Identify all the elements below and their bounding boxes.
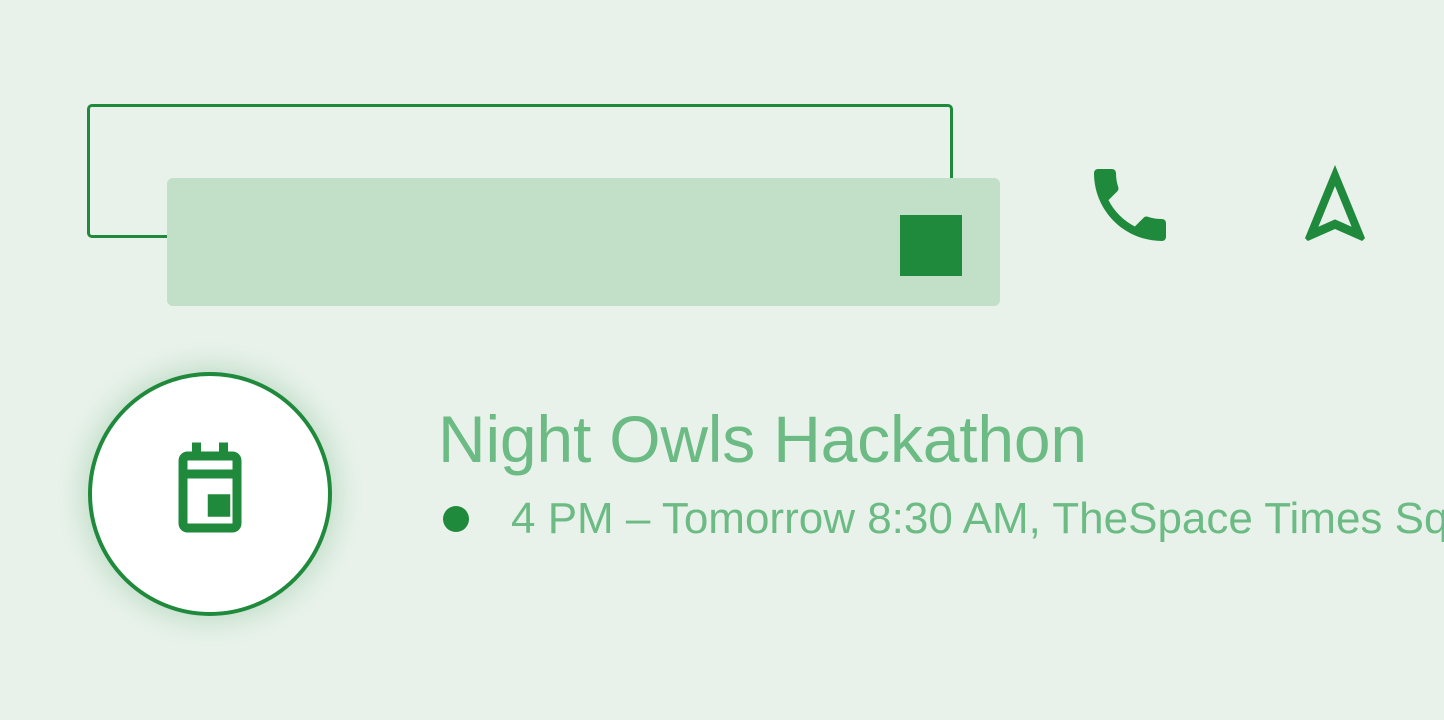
slider-track-fill[interactable]: [167, 178, 1000, 306]
event-details: Night Owls Hackathon 4 PM – Tomorrow 8:3…: [438, 400, 1444, 620]
app-screen: Night Owls Hackathon 4 PM – Tomorrow 8:3…: [0, 0, 1444, 720]
phone-icon: [1082, 157, 1178, 253]
navigation-arrow-icon: [1287, 157, 1383, 253]
event-meta: 4 PM – Tomorrow 8:30 AM, TheSpace Times …: [438, 492, 1444, 546]
slider-thumb[interactable]: [900, 215, 962, 276]
event-subtitle: 4 PM – Tomorrow 8:30 AM, TheSpace Times …: [511, 492, 1444, 546]
avatar: [88, 372, 332, 616]
event-title: Night Owls Hackathon: [438, 400, 1444, 478]
top-action-bar: [1065, 140, 1405, 270]
event-list-item[interactable]: Night Owls Hackathon 4 PM – Tomorrow 8:3…: [0, 372, 1444, 642]
status-dot-icon: [443, 506, 469, 532]
call-button[interactable]: [1065, 140, 1195, 270]
calendar-event-icon: [156, 438, 264, 551]
navigate-button[interactable]: [1270, 140, 1400, 270]
